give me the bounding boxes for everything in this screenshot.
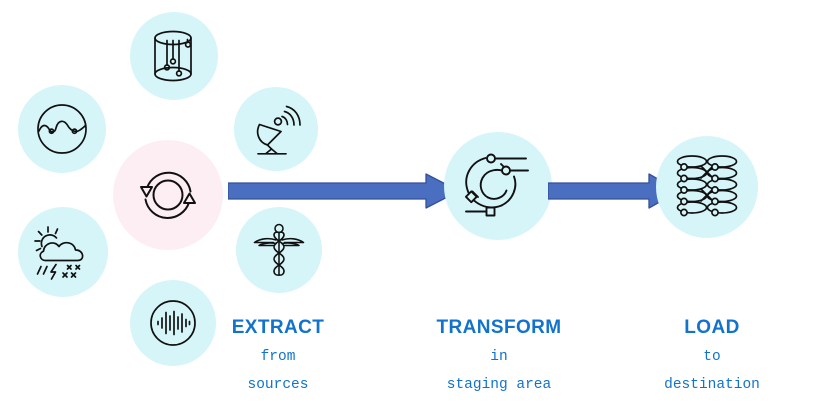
stage-label-load: LOAD to destination [631,318,793,392]
sync-circular-arrows-icon [130,157,206,233]
load-sub2: destination [631,378,793,393]
stage-label-extract: EXTRACT from sources [197,318,359,392]
sun-cloud-storm-snow-icon [32,223,94,281]
transform-sub1: in [418,350,580,365]
source-node-ocean[interactable] [18,85,106,173]
database-cylinder-nodes-icon [146,27,202,85]
source-node-medical[interactable] [236,207,322,293]
transform-sub2: staging area [418,378,580,393]
satellite-dish-icon [248,101,304,157]
load-sub1: to [631,350,793,365]
extract-sub2: sources [197,378,359,393]
wave-circle-icon [33,100,91,158]
stage-label-transform: TRANSFORM in staging area [418,318,580,392]
source-node-database[interactable] [130,12,218,100]
audio-waveform-circle-icon [145,295,201,351]
transform-title: TRANSFORM [418,318,580,337]
stacked-network-cluster-icon [671,153,743,221]
stage-node-extract[interactable] [113,140,223,250]
extract-title: EXTRACT [197,318,359,337]
load-title: LOAD [631,318,793,337]
etl-diagram-canvas: EXTRACT from sources TRANSFORM in stagin… [0,0,823,413]
source-node-weather[interactable] [18,207,108,297]
stage-node-transform[interactable] [444,132,552,240]
spiral-transform-nodes-icon [458,146,538,226]
stage-node-load[interactable] [656,136,758,238]
source-node-satellite[interactable] [234,87,318,171]
caduceus-icon [250,221,308,279]
extract-sub1: from [197,350,359,365]
arrow-extract-to-transform [228,170,460,212]
